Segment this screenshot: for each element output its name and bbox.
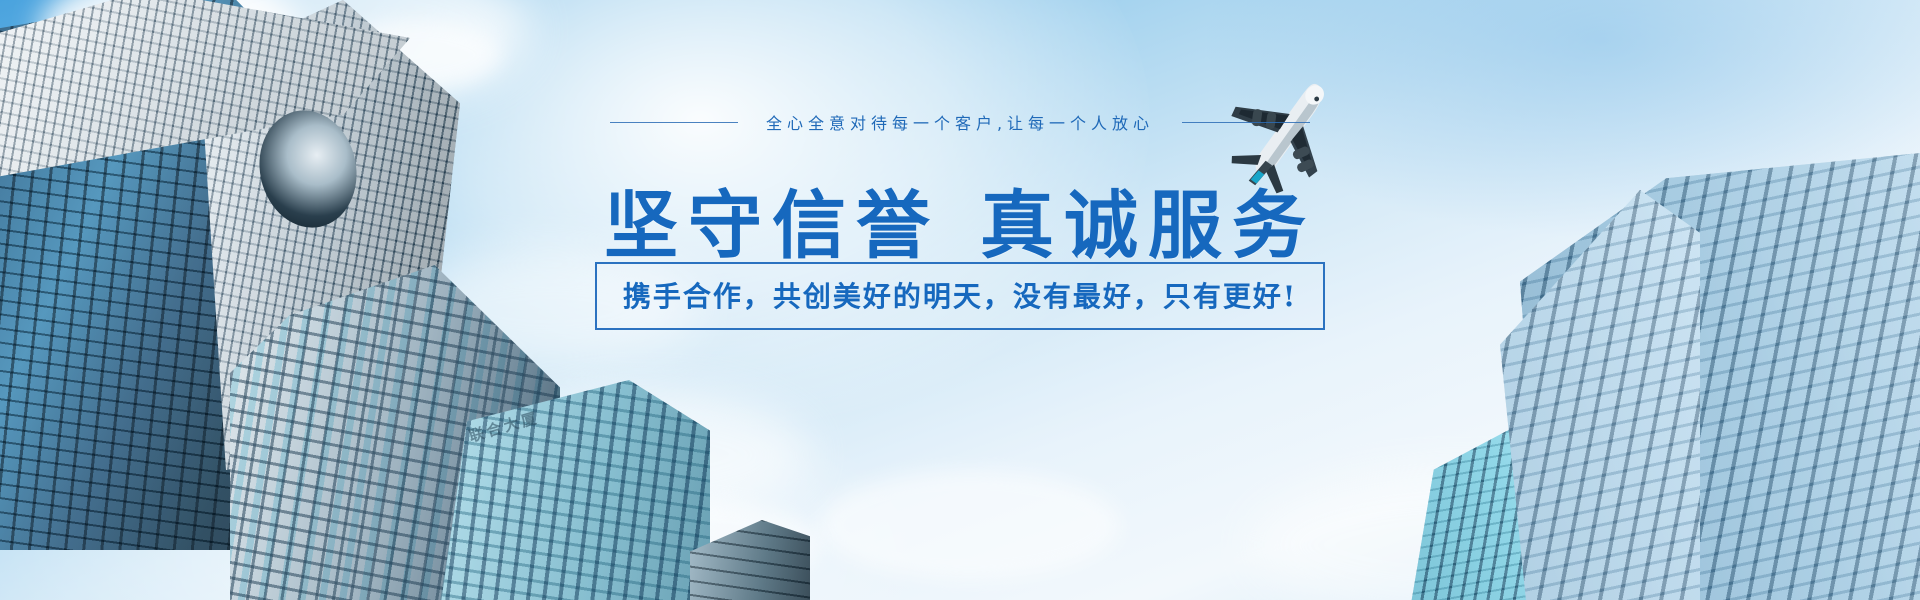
page-title: 坚守信誉真诚服务 <box>0 166 1920 273</box>
cloud <box>820 470 1120 580</box>
building-facade <box>690 520 810 600</box>
headline-part-2: 真诚服务 <box>980 183 1316 269</box>
subtext-box: 携手合作，共创美好的明天，没有最好，只有更好! <box>595 262 1325 330</box>
window-grid <box>690 520 810 600</box>
window-grid <box>440 380 710 600</box>
tagline-row: 全心全意对待每一个客户,让每一个人放心 <box>0 110 1920 134</box>
tagline-text: 全心全意对待每一个客户,让每一个人放心 <box>766 110 1154 134</box>
building-center: 联合大厦 <box>440 380 710 600</box>
building-sliver <box>690 520 810 600</box>
building-facade <box>440 380 710 600</box>
hero-banner: 联合大厦 <box>0 0 1920 600</box>
headline-part-1: 坚守信誉 <box>604 183 940 269</box>
subtext-wrapper: 携手合作，共创美好的明天，没有最好，只有更好! <box>0 262 1920 330</box>
decorative-rule-left-icon <box>610 122 738 123</box>
decorative-rule-right-icon <box>1182 122 1310 123</box>
